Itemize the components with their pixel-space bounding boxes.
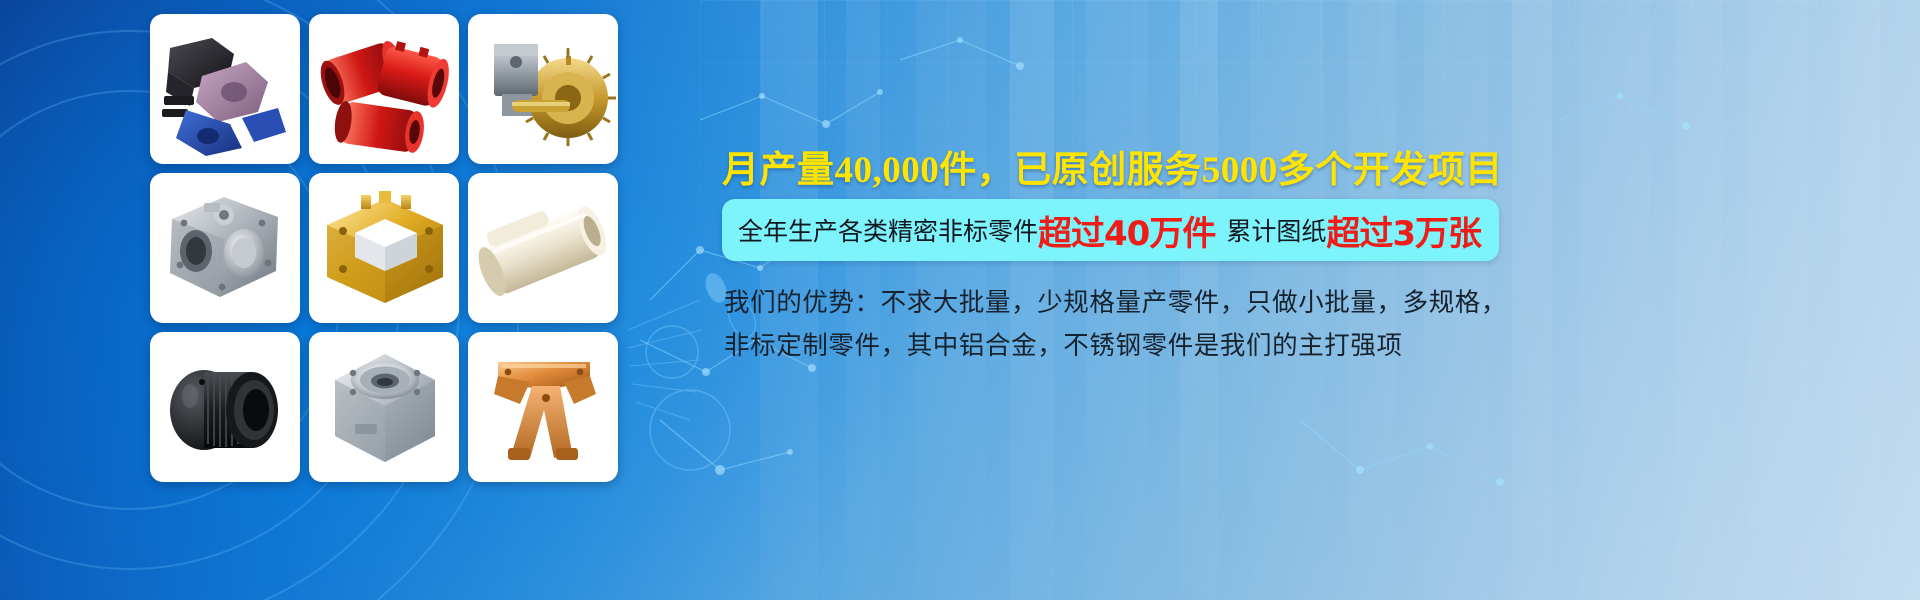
stat-text-2: 累计图纸 bbox=[1226, 212, 1326, 248]
product-card-brass-worm-gear-shaft[interactable] bbox=[468, 14, 618, 164]
advantage-line-1: 我们的优势：不求大批量，少规格量产零件，只做小批量，多规格， bbox=[724, 282, 1834, 325]
product-card-copper-support-arm[interactable] bbox=[468, 332, 618, 482]
advantage-line-2: 非标定制零件，其中铝合金，不锈钢零件是我们的主打强项 bbox=[724, 325, 1834, 368]
product-image-grid bbox=[150, 14, 618, 486]
promo-banner: 月产量40,000件，已原创服务5000多个开发项目 全年生产各类精密非标零件 … bbox=[0, 0, 1920, 600]
stat-text-1: 全年生产各类精密非标零件 bbox=[738, 212, 1038, 248]
product-card-red-anodized-cylinders[interactable] bbox=[309, 14, 459, 164]
advantage-paragraph: 我们的优势：不求大批量，少规格量产零件，只做小批量，多规格， 非标定制零件，其中… bbox=[724, 282, 1834, 368]
product-card-black-threaded-hub[interactable] bbox=[150, 332, 300, 482]
stat-highlight-2: 超过3万张 bbox=[1326, 206, 1481, 255]
stat-banner: 全年生产各类精密非标零件 超过40万件 累计图纸 超过3万张 bbox=[722, 199, 1499, 261]
product-card-white-peek-tube-block[interactable] bbox=[468, 173, 618, 323]
headline: 月产量40,000件，已原创服务5000多个开发项目 bbox=[722, 139, 1882, 193]
product-card-gold-anodized-mold-frame[interactable] bbox=[309, 173, 459, 323]
product-card-aluminum-gearbox-housing[interactable] bbox=[150, 173, 300, 323]
product-card-anodized-aluminum-brackets[interactable] bbox=[150, 14, 300, 164]
product-card-stainless-cube-manifold[interactable] bbox=[309, 332, 459, 482]
stat-highlight-1: 超过40万件 bbox=[1038, 206, 1215, 255]
